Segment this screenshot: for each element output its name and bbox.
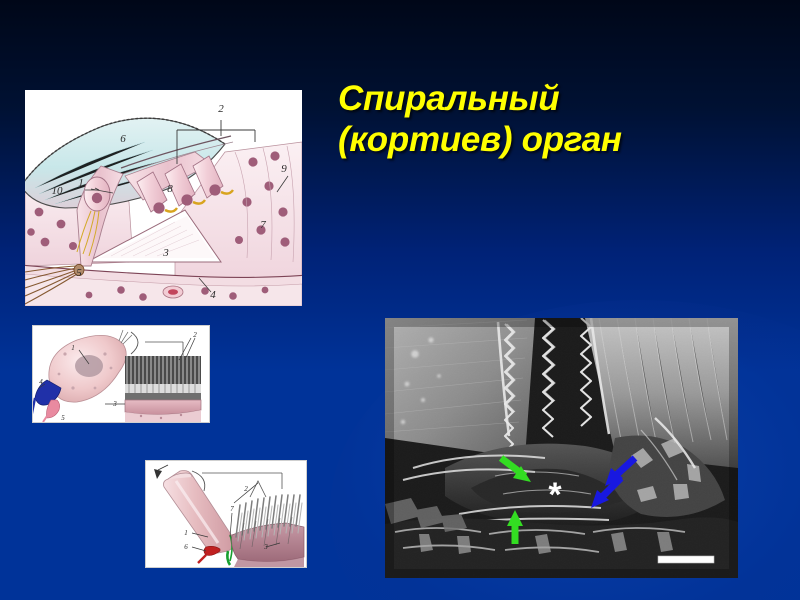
figure-outer-hair-cell: 2 7 1 6 3 xyxy=(145,460,307,568)
ohc-label-3: 3 xyxy=(263,543,268,551)
scale-bar xyxy=(658,556,714,563)
ihc-label-4: 4 xyxy=(39,378,43,386)
ohc-label-1: 1 xyxy=(184,529,188,537)
figure-sem-micrograph: * xyxy=(385,318,738,578)
inner-hair-cell-svg: 1 2 3 4 5 xyxy=(33,326,209,422)
outer-hair-cell-svg: 2 7 1 6 3 xyxy=(146,461,306,567)
ohc-label-7: 7 xyxy=(230,505,234,513)
white-asterisk-marker: * xyxy=(548,476,562,514)
ihc-label-3: 3 xyxy=(112,400,117,408)
figure-inner-hair-cell: 1 2 3 4 5 xyxy=(32,325,210,423)
ihc-label-1: 1 xyxy=(71,344,75,352)
figure-corti-cross-section: 2 6 9 10 1 8 7 3 5 4 xyxy=(25,90,302,306)
ihc-label-5: 5 xyxy=(61,414,65,422)
corti-label-2: 2 xyxy=(218,103,224,115)
sem-micrograph-svg: * xyxy=(385,318,738,578)
corti-label-8: 8 xyxy=(167,183,173,195)
corti-label-1: 1 xyxy=(78,177,84,189)
corti-label-10: 10 xyxy=(52,185,64,197)
corti-label-5: 5 xyxy=(76,267,82,279)
ohc-label-6: 6 xyxy=(184,543,188,551)
page-title: Спиральный (кортиев) орган xyxy=(338,78,758,160)
slide-canvas: Спиральный (кортиев) орган xyxy=(0,0,800,600)
corti-label-3: 3 xyxy=(162,247,169,259)
corti-label-4: 4 xyxy=(210,289,216,301)
ohc-label-2: 2 xyxy=(244,485,248,493)
ihc-label-2: 2 xyxy=(193,331,197,339)
corti-section-svg: 2 6 9 10 1 8 7 3 5 4 xyxy=(25,90,302,306)
corti-label-6: 6 xyxy=(120,133,126,145)
corti-label-9: 9 xyxy=(281,163,287,175)
corti-label-7: 7 xyxy=(260,219,266,231)
